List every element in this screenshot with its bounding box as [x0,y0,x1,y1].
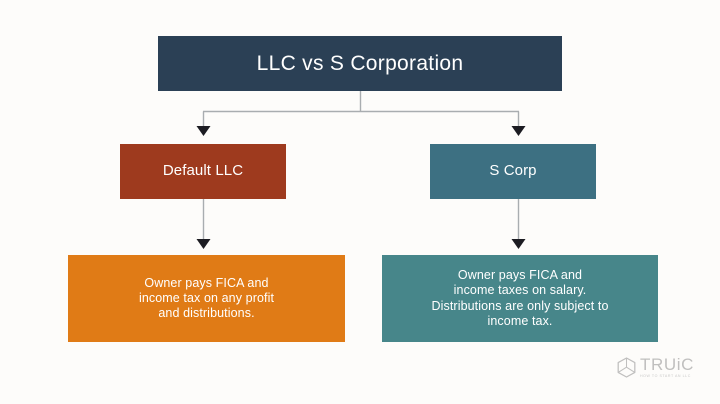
logo-wordmark: TRUiC HOW TO START AN LLC [640,356,694,378]
node-title-label: LLC vs S Corporation [158,51,562,77]
node-s-corp-detail-text: Owner pays FICA and income taxes on sala… [392,268,648,329]
logo-name: TRUiC [640,356,694,373]
node-default-llc-label: Default LLC [120,162,286,180]
flowchart-canvas: LLC vs S Corporation Default LLC S Corp … [0,0,720,404]
node-s-corp-label: S Corp [430,162,596,180]
node-default-llc-detail-text: Owner pays FICA and income tax on any pr… [82,276,331,322]
logo-tagline: HOW TO START AN LLC [640,375,691,379]
node-s-corp: S Corp [430,144,596,199]
node-default-llc: Default LLC [120,144,286,199]
node-title-llc-vs-s-corporation: LLC vs S Corporation [158,36,562,91]
truic-logo: TRUiC HOW TO START AN LLC [617,356,694,378]
cube-icon [617,357,636,378]
node-default-llc-detail: Owner pays FICA and income tax on any pr… [68,255,345,342]
node-s-corp-detail: Owner pays FICA and income taxes on sala… [382,255,658,342]
